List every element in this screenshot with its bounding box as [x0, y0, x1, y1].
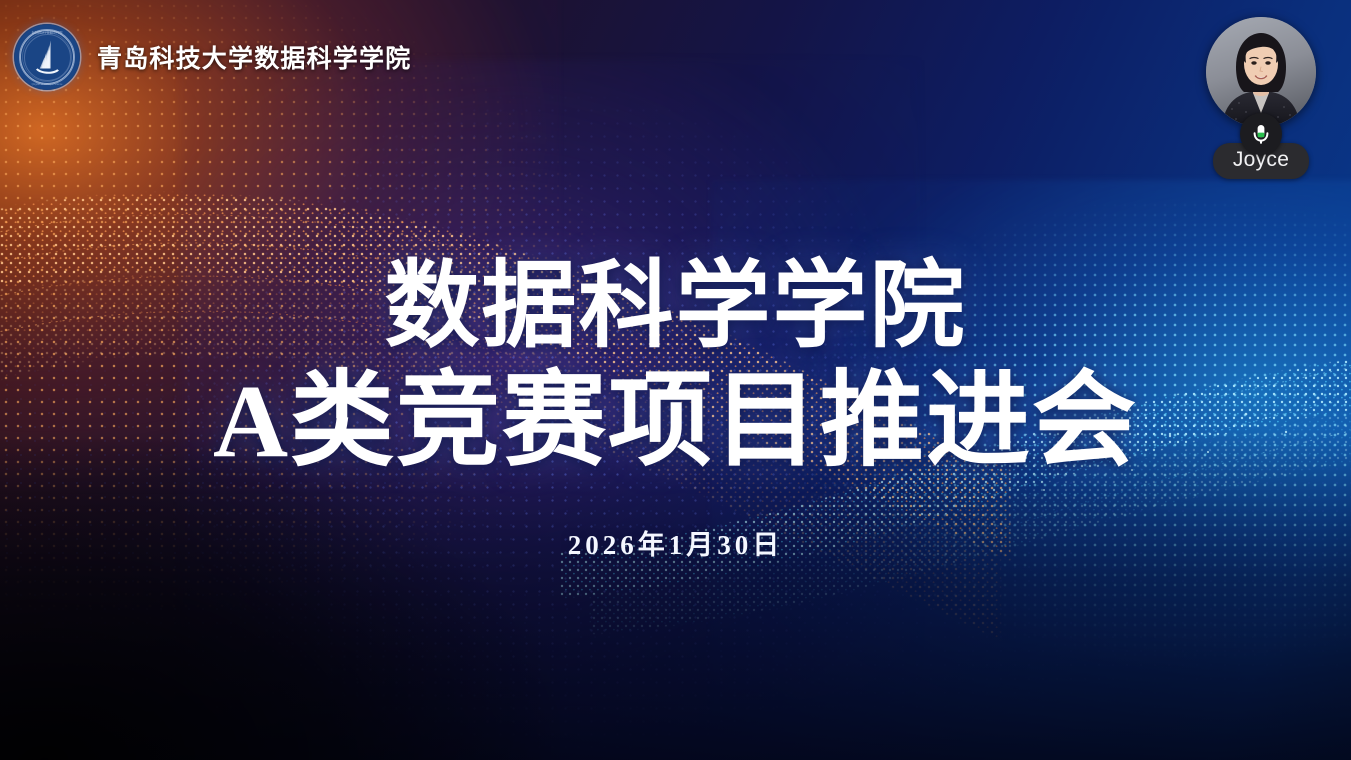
presentation-slide-screenshare: 青岛科技大学数据科学学院 Qingdao University of Scien…: [0, 0, 1351, 760]
avatar[interactable]: [1206, 17, 1316, 127]
slide-header: 青岛科技大学数据科学学院 Qingdao University of Scien…: [14, 24, 411, 90]
qust-university-seal-icon: 青岛科技大学数据科学学院 Qingdao University of Scien…: [14, 24, 80, 90]
slide-date: 2026年1月30日: [0, 523, 1351, 562]
organization-name: 青岛科技大学数据科学学院: [97, 39, 411, 75]
microphone-icon[interactable]: [1240, 113, 1282, 155]
seal-inner-ring: [24, 34, 71, 81]
slide-title-line-1: 数据科学学院: [0, 258, 1351, 355]
slide-title-block: 数据科学学院 A类竞赛项目推进会 2026年1月30日: [0, 258, 1351, 562]
participant-tile[interactable]: Joyce: [1205, 17, 1317, 179]
slide-title-line-2: A类竞赛项目推进会: [0, 369, 1351, 475]
